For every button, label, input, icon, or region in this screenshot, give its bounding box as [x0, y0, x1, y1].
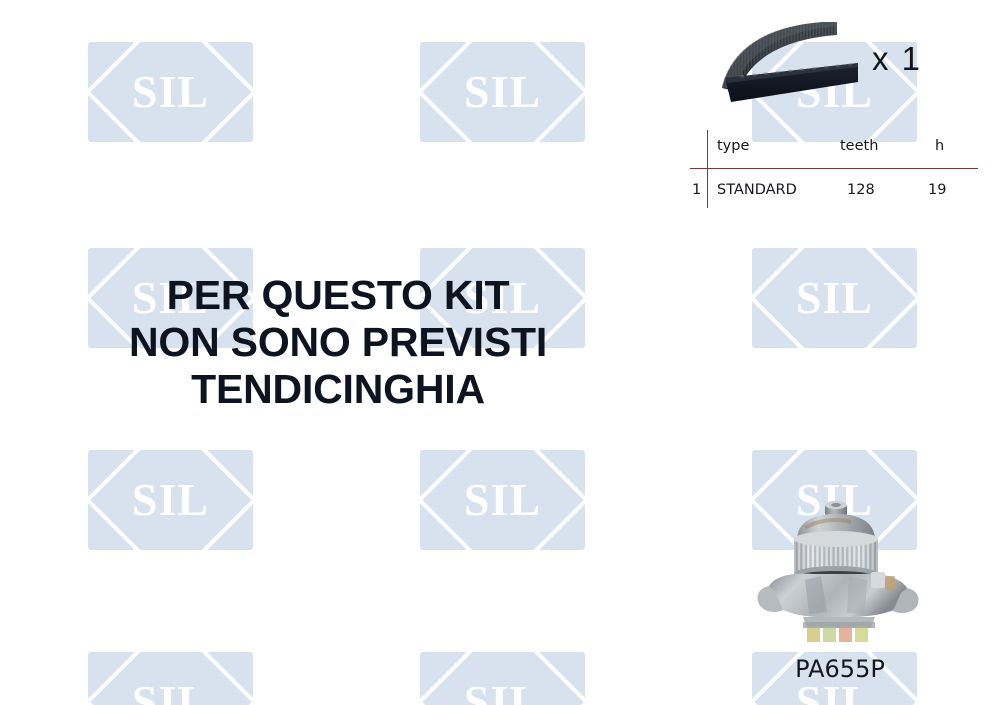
watermark-tile: SIL: [420, 652, 585, 705]
sil-diamond-icon: [752, 248, 917, 348]
sil-diamond-icon: [420, 42, 585, 142]
watermark-tile: SIL: [420, 450, 585, 550]
pump-part-number: PA655P: [745, 655, 935, 683]
watermark-label: SIL: [88, 679, 253, 705]
watermark-label: SIL: [88, 69, 253, 115]
notice-line-2: NON SONO PREVISTI: [0, 319, 676, 366]
sil-diamond-icon: [420, 652, 585, 705]
watermark-label: SIL: [420, 477, 585, 523]
watermark-tile: SIL: [88, 652, 253, 705]
table-horizontal-rule: [690, 168, 978, 169]
product-kit-sheet: SIL SIL SIL SIL SIL SIL SIL SIL: [0, 0, 999, 705]
timing-belt-panel: x 1 type teeth h 1 STANDARD 128 19: [690, 8, 990, 208]
belt-spec-table: type teeth h 1 STANDARD 128 19: [690, 128, 978, 210]
sil-diamond-icon: [88, 42, 253, 142]
timing-belt-photo: [718, 16, 898, 121]
notice-line-1: PER QUESTO KIT: [0, 272, 676, 319]
kit-notice-text: PER QUESTO KIT NON SONO PREVISTI TENDICI…: [0, 272, 676, 413]
sil-diamond-icon: [88, 450, 253, 550]
watermark-label: SIL: [752, 275, 917, 321]
table-row-index: 1: [692, 182, 701, 198]
water-pump-panel: PA655P: [745, 500, 960, 705]
table-cell-type: STANDARD: [717, 182, 797, 198]
column-header-teeth: teeth: [840, 138, 878, 154]
watermark-label: SIL: [420, 679, 585, 705]
watermark-label: SIL: [88, 477, 253, 523]
watermark-tile: SIL: [88, 42, 253, 142]
sil-diamond-icon: [88, 652, 253, 705]
notice-line-3: TENDICINGHIA: [0, 366, 676, 413]
watermark-label: SIL: [420, 69, 585, 115]
column-header-type: type: [717, 138, 749, 154]
water-pump-photo: [745, 500, 935, 645]
watermark-tile: SIL: [420, 42, 585, 142]
watermark-tile: SIL: [752, 248, 917, 348]
table-cell-teeth: 128: [847, 182, 875, 198]
column-header-h: h: [935, 138, 944, 154]
sil-diamond-icon: [420, 450, 585, 550]
table-cell-h: 19: [928, 182, 946, 198]
watermark-tile: SIL: [88, 450, 253, 550]
belt-quantity-label: x 1: [872, 40, 922, 78]
